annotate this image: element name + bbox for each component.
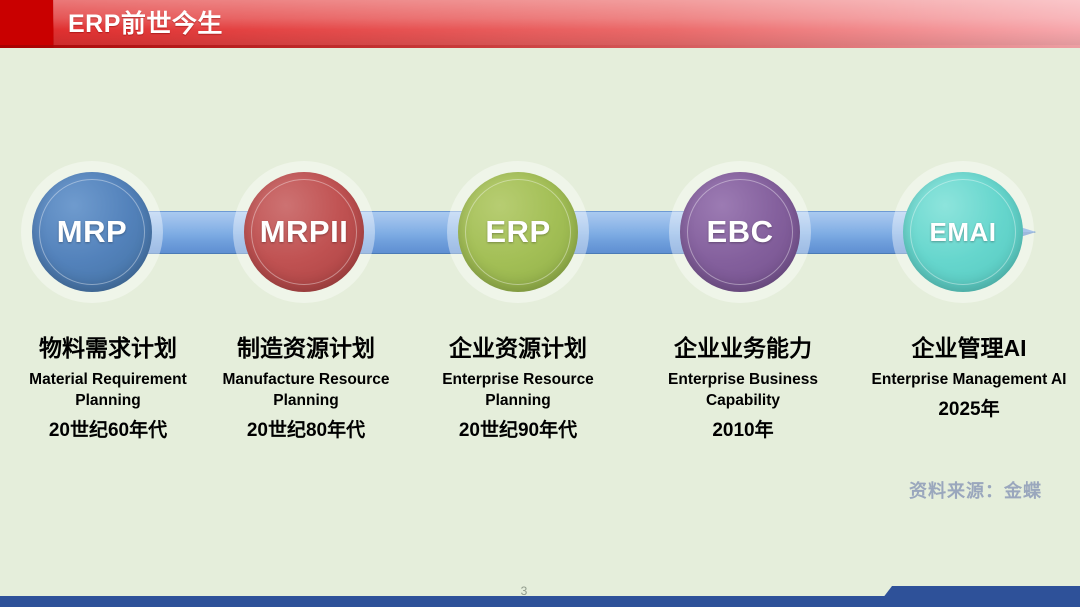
node-label: ERP: [485, 214, 550, 250]
timeline-node-erp[interactable]: ERP: [458, 172, 578, 292]
caption-era: 2010年: [645, 418, 841, 444]
node-label: MRP: [57, 214, 127, 250]
caption-era: 20世纪80年代: [208, 418, 404, 444]
caption-english-name: Manufacture Resource Planning: [208, 369, 404, 411]
caption-era: 2025年: [866, 397, 1072, 423]
footer-bar-left: [0, 596, 892, 607]
timeline-caption-mrpii: 制造资源计划 Manufacture Resource Planning 20世…: [208, 333, 404, 444]
caption-english-name: Material Requirement Planning: [8, 369, 208, 411]
footer-bar-wedge: [876, 586, 892, 607]
caption-english-name: Enterprise Business Capability: [645, 369, 841, 411]
timeline-node-emai[interactable]: EMAI: [903, 172, 1023, 292]
caption-chinese-name: 企业业务能力: [645, 333, 841, 363]
node-label: EBC: [707, 214, 774, 250]
slide-canvas: ERP前世今生 MRP MRPII ERP EBC: [0, 0, 1080, 607]
erp-evolution-timeline: MRP MRPII ERP EBC EMAI 物料需: [0, 0, 1080, 607]
node-label: EMAI: [930, 217, 997, 248]
caption-era: 20世纪60年代: [8, 418, 208, 444]
caption-english-name: Enterprise Resource Planning: [420, 369, 616, 411]
timeline-caption-erp: 企业资源计划 Enterprise Resource Planning 20世纪…: [420, 333, 616, 444]
timeline-caption-ebc: 企业业务能力 Enterprise Business Capability 20…: [645, 333, 841, 444]
timeline-node-mrpii[interactable]: MRPII: [244, 172, 364, 292]
footer-bar-right: [892, 586, 1080, 607]
caption-chinese-name: 企业资源计划: [420, 333, 616, 363]
caption-era: 20世纪90年代: [420, 418, 616, 444]
caption-chinese-name: 物料需求计划: [8, 333, 208, 363]
source-attribution: 资料来源：金蝶: [909, 477, 1042, 503]
node-label: MRPII: [260, 214, 349, 250]
timeline-node-ebc[interactable]: EBC: [680, 172, 800, 292]
caption-chinese-name: 制造资源计划: [208, 333, 404, 363]
timeline-caption-mrp: 物料需求计划 Material Requirement Planning 20世…: [8, 333, 208, 444]
timeline-caption-emai: 企业管理AI Enterprise Management AI 2025年: [866, 333, 1072, 423]
timeline-node-mrp[interactable]: MRP: [32, 172, 152, 292]
caption-chinese-name: 企业管理AI: [866, 333, 1072, 363]
caption-english-name: Enterprise Management AI: [866, 369, 1072, 390]
